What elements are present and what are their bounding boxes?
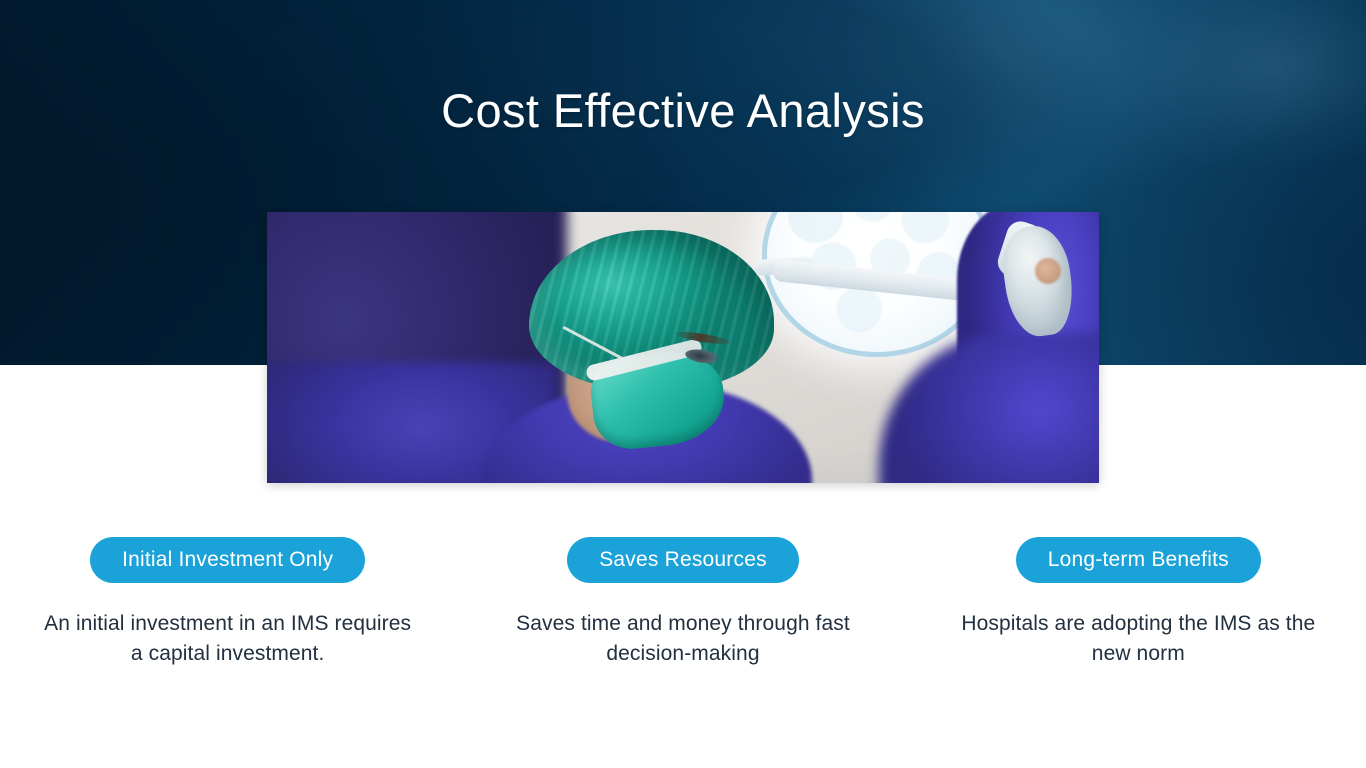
column-body-long-term-benefits: Hospitals are adopting the IMS as the ne… (948, 609, 1328, 669)
pill-long-term-benefits[interactable]: Long-term Benefits (1016, 537, 1261, 583)
page-title: Cost Effective Analysis (0, 84, 1366, 138)
feature-column-saves-resources: Saves Resources Saves time and money thr… (455, 537, 910, 669)
feature-image (267, 212, 1099, 483)
feature-columns: Initial Investment Only An initial inves… (0, 537, 1366, 669)
pill-saves-resources[interactable]: Saves Resources (567, 537, 799, 583)
photo-vignette (267, 212, 1099, 483)
feature-image-scene (267, 212, 1099, 483)
column-body-saves-resources: Saves time and money through fast decisi… (493, 609, 873, 669)
pill-initial-investment-only[interactable]: Initial Investment Only (90, 537, 365, 583)
feature-column-long-term-benefits: Long-term Benefits Hospitals are adoptin… (911, 537, 1366, 669)
slide-root: Cost Effective Analysis (0, 0, 1366, 768)
feature-column-initial-investment: Initial Investment Only An initial inves… (0, 537, 455, 669)
column-body-initial-investment: An initial investment in an IMS requires… (38, 609, 418, 669)
